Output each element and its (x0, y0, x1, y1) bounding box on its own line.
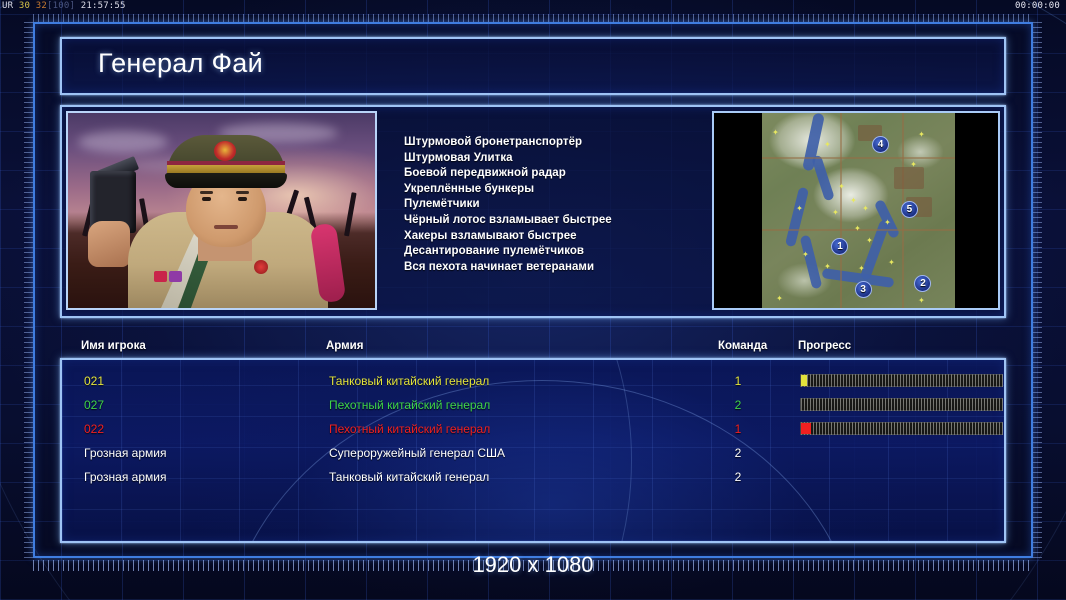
map-resource-icon: ✦ (824, 263, 831, 270)
map-resource-icon: ✦ (910, 161, 917, 168)
map-resource-icon: ✦ (824, 141, 831, 148)
map-road (840, 113, 842, 308)
progress-bar (800, 398, 1003, 411)
map-resource-icon: ✦ (772, 129, 779, 136)
cell-player-name: 021 (84, 369, 104, 393)
player-list-panel: 021Танковый китайский генерал1027Пехотны… (60, 358, 1006, 543)
status-bar-left: UR 30 32[100] 21:57:55 (2, 0, 126, 13)
ability-item: Хакеры взламывают быстрее (404, 229, 694, 245)
title-panel: Генерал Фай (60, 37, 1006, 95)
cell-team: 2 (724, 465, 752, 489)
status-value-2: 32 (36, 1, 47, 11)
map-resource-icon: ✦ (832, 209, 839, 216)
column-header-progress: Прогресс (798, 340, 851, 352)
portrait-mouth (214, 225, 238, 229)
status-value-1: 30 (19, 1, 30, 11)
ability-item: Пулемётчики (404, 197, 694, 213)
map-road (762, 157, 955, 159)
ability-item: Вся пехота начинает ветеранами (404, 260, 694, 276)
table-row[interactable]: Грозная армияСупероружейный генерал США2 (62, 441, 1004, 465)
main-frame: Генерал Фай (33, 22, 1033, 558)
portrait-cloud (78, 131, 168, 153)
minimap-terrain: ✦ ✦ ✦ ✦ ✦ ✦ ✦ ✦ ✦ ✦ ✦ ✦ ✦ ✦ ✦ ✦ ✦ ✦ ✦ 12… (762, 113, 955, 308)
ability-item: Штурмовая Улитка (404, 151, 694, 167)
ability-item: Десантирование пулемётчиков (404, 244, 694, 260)
ability-item: Укреплённые бункеры (404, 182, 694, 198)
portrait-cap-brim (165, 173, 287, 188)
map-field (894, 167, 924, 189)
map-river (800, 235, 823, 290)
minimap[interactable]: ✦ ✦ ✦ ✦ ✦ ✦ ✦ ✦ ✦ ✦ ✦ ✦ ✦ ✦ ✦ ✦ ✦ ✦ ✦ 12… (712, 111, 1000, 310)
map-resource-icon: ✦ (918, 297, 925, 304)
map-resource-icon: ✦ (866, 237, 873, 244)
status-bar: UR 30 32[100] 21:57:55 00:00:00 (0, 0, 1066, 13)
map-resource-icon: ✦ (838, 183, 845, 190)
map-start-position-2[interactable]: 2 (914, 275, 931, 292)
ability-item: Боевой передвижной радар (404, 166, 694, 182)
map-start-position-5[interactable]: 5 (901, 201, 918, 218)
progress-bar-fill (801, 423, 811, 434)
map-resource-icon: ✦ (802, 251, 809, 258)
cell-team: 2 (724, 393, 752, 417)
table-row[interactable]: Грозная армияТанковый китайский генерал2 (62, 465, 1004, 489)
map-river (811, 155, 835, 202)
general-info-panel: Штурмовой бронетранспортёр Штурмовая Ули… (60, 105, 1006, 318)
cell-army: Танковый китайский генерал (329, 465, 489, 489)
cell-player-name: Грозная армия (84, 465, 166, 489)
portrait-cap-emblem (214, 141, 236, 161)
status-bar-right: 00:00:00 (1015, 0, 1060, 13)
map-resource-icon: ✦ (776, 295, 783, 302)
column-header-team: Команда (718, 340, 767, 352)
portrait-eye (202, 197, 211, 201)
cell-player-name: Грозная армия (84, 441, 166, 465)
cell-army: Пехотный китайский генерал (329, 417, 490, 441)
status-prefix: UR (2, 1, 13, 11)
portrait-medal (154, 271, 167, 282)
table-row[interactable]: 021Танковый китайский генерал1 (62, 369, 1004, 393)
map-resource-icon: ✦ (884, 219, 891, 226)
portrait-eye (238, 197, 247, 201)
portrait-medal (169, 271, 182, 282)
cell-army: Пехотный китайский генерал (329, 393, 490, 417)
progress-bar-fill (801, 375, 807, 386)
ability-list: Штурмовой бронетранспортёр Штурмовая Ули… (404, 135, 694, 275)
map-resource-icon: ✦ (888, 259, 895, 266)
progress-bar (800, 374, 1003, 387)
page-title: Генерал Фай (98, 48, 263, 79)
ability-item: Чёрный лотос взламывает быстрее (404, 213, 694, 229)
general-portrait (66, 111, 377, 310)
portrait-brow (200, 191, 213, 194)
map-resource-icon: ✦ (854, 225, 861, 232)
table-row[interactable]: 022Пехотный китайский генерал1 (62, 417, 1004, 441)
resolution-label: 1920 x 1080 (0, 552, 1066, 578)
cell-team: 1 (724, 369, 752, 393)
status-clock: 21:57:55 (81, 1, 126, 11)
map-resource-icon: ✦ (850, 197, 857, 204)
cell-team: 1 (724, 417, 752, 441)
ruler-right (1033, 22, 1042, 558)
cell-player-name: 027 (84, 393, 104, 417)
cell-army: Супероружейный генерал США (329, 441, 505, 465)
cell-player-name: 022 (84, 417, 104, 441)
portrait-medal (254, 260, 268, 274)
map-resource-icon: ✦ (796, 205, 803, 212)
status-bracket: [100] (47, 1, 75, 11)
column-header-army: Армия (326, 340, 363, 352)
portrait-brow (236, 191, 249, 194)
portrait-hand (88, 221, 130, 267)
cell-army: Танковый китайский генерал (329, 369, 489, 393)
ability-item: Штурмовой бронетранспортёр (404, 135, 694, 151)
ruler-left (24, 22, 33, 558)
map-resource-icon: ✦ (858, 265, 865, 272)
map-start-position-1[interactable]: 1 (831, 238, 848, 255)
map-resource-icon: ✦ (862, 205, 869, 212)
progress-bar (800, 422, 1003, 435)
map-resource-icon: ✦ (918, 131, 925, 138)
map-start-position-3[interactable]: 3 (855, 281, 872, 298)
cell-team: 2 (724, 441, 752, 465)
table-row[interactable]: 027Пехотный китайский генерал2 (62, 393, 1004, 417)
column-header-player-name: Имя игрока (81, 340, 146, 352)
